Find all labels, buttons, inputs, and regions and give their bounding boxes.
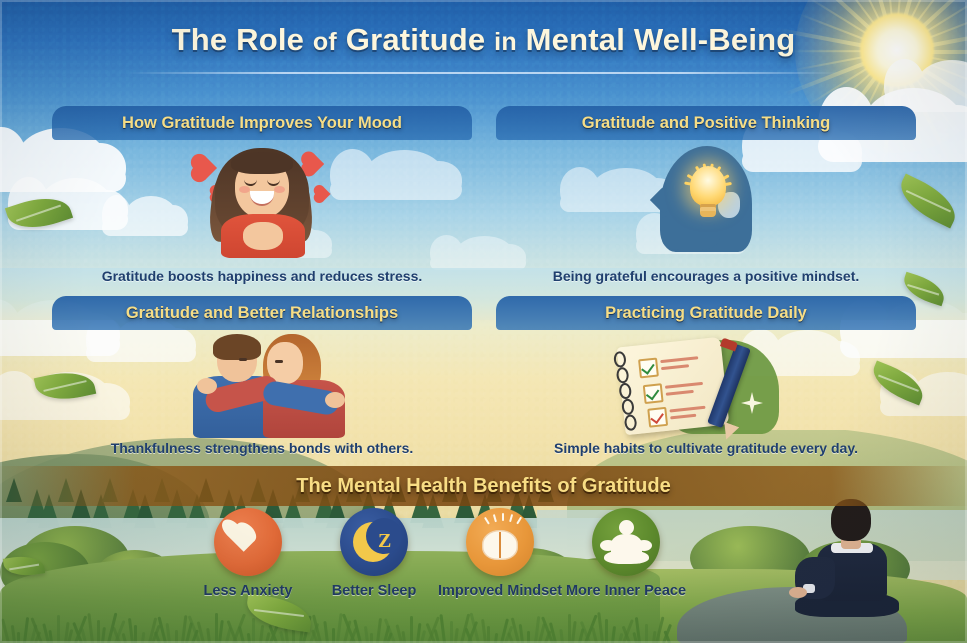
benefits-list: Less Anxiety Z Better Sleep Improved Min… [178, 508, 738, 606]
head-silhouette-with-lightbulb-illustration [646, 142, 766, 258]
title-part-2: of [313, 28, 337, 56]
card-4-header: Practicing Gratitude Daily [496, 296, 916, 330]
card-4-illustration [496, 330, 916, 430]
moon-z-icon: Z [340, 508, 408, 576]
benefit-label-4: More Inner Peace [556, 583, 696, 599]
meditation-icon [592, 508, 660, 576]
card-1-caption: Gratitude boosts happiness and reduces s… [52, 268, 472, 284]
card-3-heading: Gratitude and Better Relationships [126, 304, 398, 323]
card-2-header: Gratitude and Positive Thinking [496, 106, 916, 140]
benefit-label-2: Better Sleep [304, 583, 444, 599]
heart-icon [214, 508, 282, 576]
card-how-gratitude-improves-your-mood[interactable]: How Gratitude Improves Your Mood Gratitu… [52, 106, 472, 284]
title-part-5: Mental Well-Being [526, 22, 796, 57]
infographic-poster: The Role of Gratitude in Mental Well-Bei… [0, 0, 967, 643]
benefits-banner: The Mental Health Benefits of Gratitude [0, 466, 967, 506]
card-2-caption: Being grateful encourages a positive min… [496, 268, 916, 284]
title-part-4: in [494, 28, 517, 56]
benefit-more-inner-peace[interactable]: More Inner Peace [556, 508, 696, 599]
seated-meditating-person [781, 499, 909, 617]
couple-hugging-illustration [167, 334, 357, 438]
title-divider [128, 72, 840, 74]
card-3-caption: Thankfulness strengthens bonds with othe… [52, 440, 472, 456]
card-3-illustration [52, 330, 472, 430]
smiling-woman-with-hearts-illustration [187, 146, 337, 256]
checklist-notebook-and-pen-illustration [613, 334, 799, 438]
card-1-header: How Gratitude Improves Your Mood [52, 106, 472, 140]
card-4-caption: Simple habits to cultivate gratitude eve… [496, 440, 916, 456]
card-gratitude-and-positive-thinking[interactable]: Gratitude and Positive Thinking Being gr… [496, 106, 916, 284]
benefit-label-3: Improved Mindset [430, 583, 570, 599]
page-title: The Role of Gratitude in Mental Well-Bei… [0, 22, 967, 58]
benefit-label-1: Less Anxiety [178, 583, 318, 599]
benefit-better-sleep[interactable]: Z Better Sleep [304, 508, 444, 599]
benefit-less-anxiety[interactable]: Less Anxiety [178, 508, 318, 599]
card-gratitude-and-better-relationships[interactable]: Gratitude and Better Relationships Thank… [52, 296, 472, 456]
card-1-illustration [52, 140, 472, 258]
benefits-banner-heading: The Mental Health Benefits of Gratitude [296, 475, 670, 498]
card-practicing-gratitude-daily[interactable]: Practicing Gratitude Daily [496, 296, 916, 456]
title-part-3: Gratitude [346, 22, 486, 57]
card-2-heading: Gratitude and Positive Thinking [582, 114, 830, 133]
card-2-illustration [496, 140, 916, 258]
card-3-header: Gratitude and Better Relationships [52, 296, 472, 330]
benefit-improved-mindset[interactable]: Improved Mindset [430, 508, 570, 599]
card-1-heading: How Gratitude Improves Your Mood [122, 114, 402, 133]
cloud-decoration [884, 60, 967, 112]
title-part-1: The Role [172, 22, 305, 57]
card-4-heading: Practicing Gratitude Daily [605, 304, 807, 323]
brain-rays-icon [466, 508, 534, 576]
